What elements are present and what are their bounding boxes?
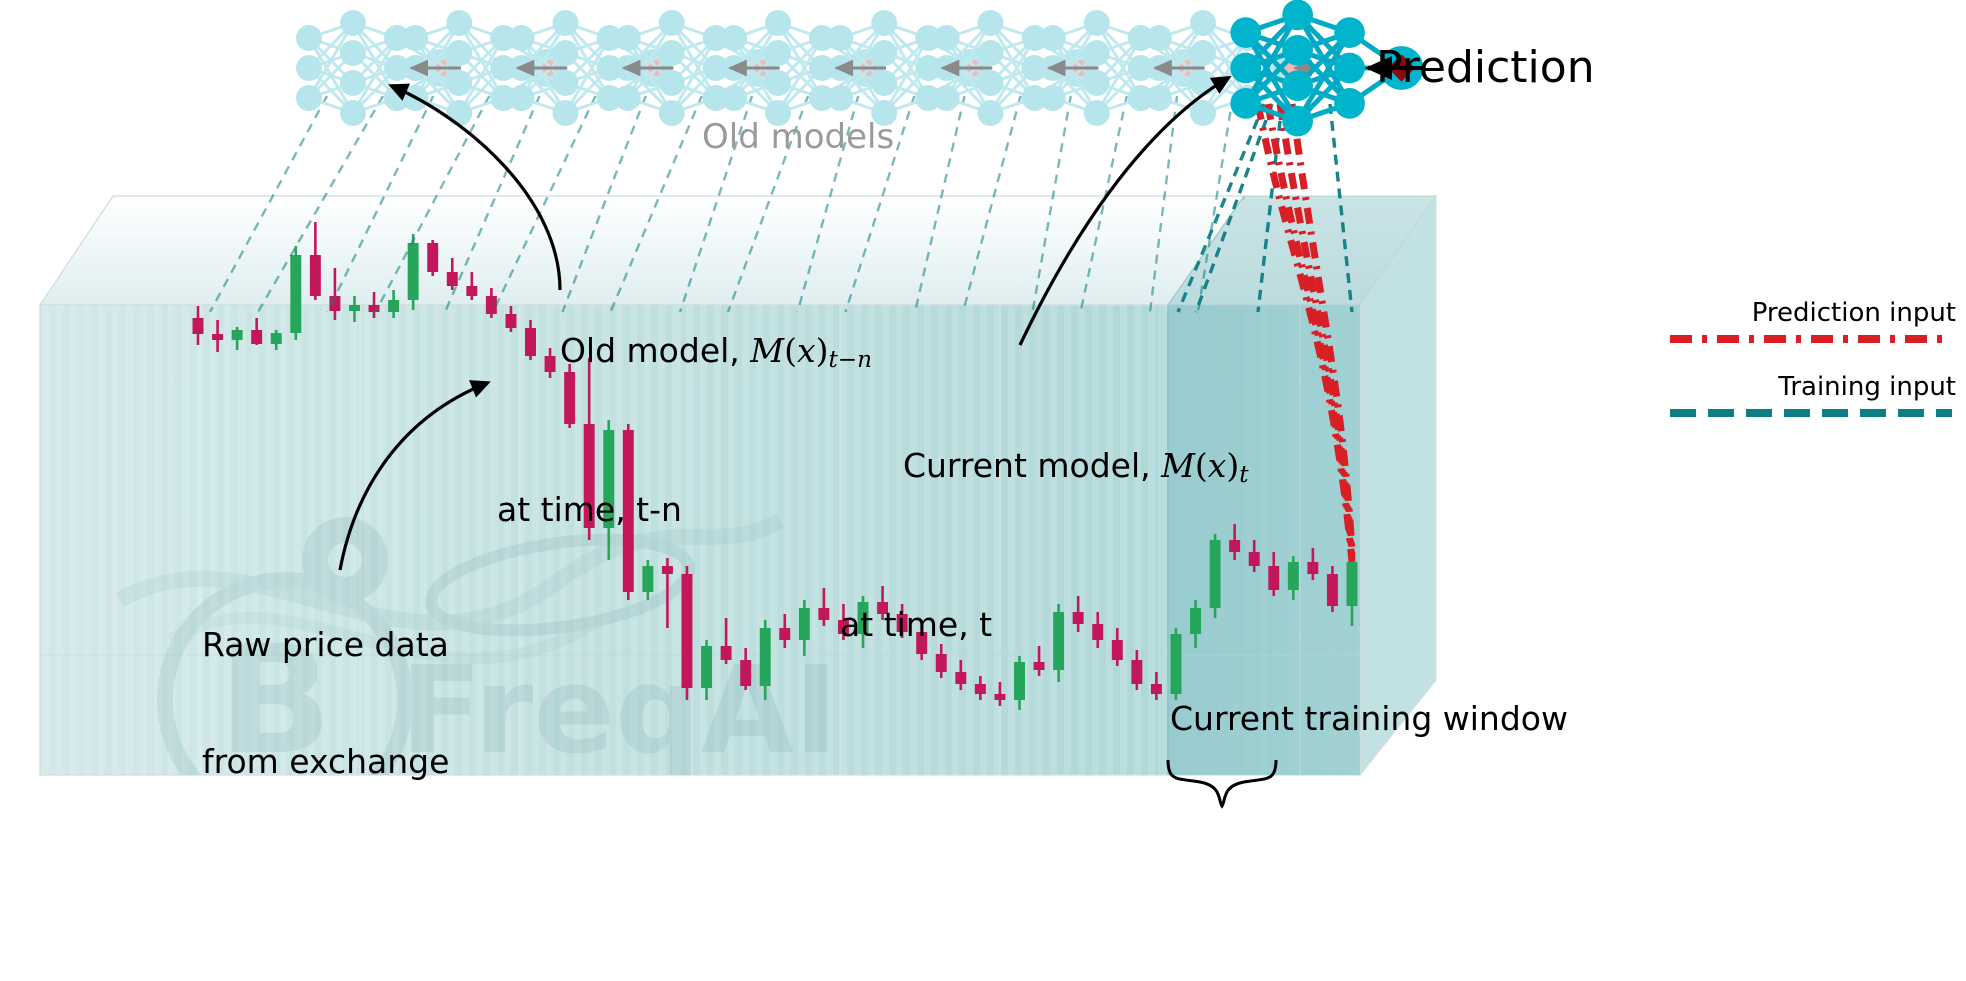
net-node	[765, 40, 791, 66]
net-node	[1190, 100, 1216, 126]
net-node	[1190, 70, 1216, 96]
net-node	[1040, 85, 1066, 111]
net-node	[871, 70, 897, 96]
net-node	[1084, 100, 1110, 126]
net-node	[1334, 88, 1365, 119]
old-model-math-M: M	[750, 331, 784, 370]
net-node	[827, 85, 853, 111]
raw-price-annotation-line1: Raw price data	[202, 626, 449, 665]
net-node	[1084, 70, 1110, 96]
net-node	[871, 10, 897, 36]
net-node	[553, 70, 579, 96]
net-node	[340, 40, 366, 66]
current-model-annotation-line1: Current model, M(x)t	[840, 408, 1249, 528]
net-node	[402, 25, 428, 51]
current-model-annotation-line2: at time, t	[840, 606, 1249, 645]
legend-label-training-input: Training input	[1666, 372, 1956, 402]
old-model-annotation: Old model, M(x)t−n at time, t-n	[497, 215, 872, 608]
net-node	[1282, 70, 1313, 101]
legend-label-prediction-input: Prediction input	[1666, 298, 1956, 328]
current-model-math-subscript: t	[1239, 462, 1248, 488]
net-node	[659, 100, 685, 126]
net-node	[721, 85, 747, 111]
old-model-math-paren-open: (	[784, 331, 797, 370]
net-node	[1040, 25, 1066, 51]
net-node	[871, 40, 897, 66]
net-node	[296, 25, 322, 51]
old-model-math-x: x	[797, 331, 816, 370]
net-node	[446, 70, 472, 96]
current-model-math-M: M	[1161, 446, 1195, 485]
old-model-prefix: Old model,	[560, 331, 750, 370]
net-node	[340, 10, 366, 36]
net-node	[934, 25, 960, 51]
net-node	[765, 70, 791, 96]
net-node	[1084, 10, 1110, 36]
net-node	[1230, 17, 1261, 48]
net-node	[978, 100, 1004, 126]
current-model-prefix: Current model,	[903, 446, 1161, 485]
net-node	[765, 10, 791, 36]
legend: Prediction input Training input	[1666, 298, 1956, 428]
raw-price-annotation-line2: from exchange	[202, 743, 449, 782]
arrow-to-raw-price-data	[340, 383, 487, 570]
old-model-annotation-line2: at time, t-n	[497, 491, 872, 530]
net-node	[1334, 17, 1365, 48]
net-node	[1146, 85, 1172, 111]
prediction-label: Prediction	[1376, 42, 1595, 94]
old-models-label: Old models	[702, 117, 894, 157]
net-node	[553, 40, 579, 66]
net-node	[659, 10, 685, 36]
net-node	[1084, 40, 1110, 66]
current-model-math-paren-open: (	[1195, 446, 1208, 485]
net-node	[659, 40, 685, 66]
net-node	[1190, 40, 1216, 66]
net-node	[978, 10, 1004, 36]
current-model-math-x: x	[1208, 446, 1227, 485]
net-node	[1190, 10, 1216, 36]
current-training-window-label: Current training window	[1170, 700, 1568, 739]
net-node	[296, 85, 322, 111]
legend-item-prediction-input: Prediction input	[1666, 298, 1956, 354]
net-node	[721, 25, 747, 51]
net-node	[978, 70, 1004, 96]
net-node	[340, 70, 366, 96]
net-node	[509, 25, 535, 51]
net-node	[934, 85, 960, 111]
net-node	[615, 85, 641, 111]
net-node	[1230, 53, 1261, 84]
net-node	[1282, 106, 1313, 137]
net-node	[1282, 0, 1313, 30]
legend-swatch-training-input	[1666, 402, 1956, 424]
net-node	[296, 55, 322, 81]
net-node	[827, 25, 853, 51]
diagram-canvas: B FreqAI	[0, 0, 1966, 981]
net-node	[1230, 88, 1261, 119]
net-node	[446, 40, 472, 66]
net-node	[659, 70, 685, 96]
net-node	[1146, 25, 1172, 51]
net-node	[1282, 35, 1313, 66]
net-node	[509, 85, 535, 111]
net-node	[446, 100, 472, 126]
training-window-brace	[1168, 760, 1276, 806]
net-node	[553, 100, 579, 126]
net-node	[553, 10, 579, 36]
current-model-annotation: Current model, M(x)t at time, t	[840, 330, 1249, 723]
raw-price-annotation: Raw price data from exchange	[202, 548, 449, 860]
net-node	[978, 40, 1004, 66]
net-node	[340, 100, 366, 126]
legend-item-training-input: Training input	[1666, 372, 1956, 428]
old-model-math-paren-close: )	[816, 331, 829, 370]
current-model-math-paren-close: )	[1226, 446, 1239, 485]
legend-swatch-prediction-input	[1666, 328, 1956, 350]
net-node	[615, 25, 641, 51]
old-model-annotation-line1: Old model, M(x)t−n	[497, 293, 872, 413]
net-node	[446, 10, 472, 36]
net-node	[1334, 53, 1365, 84]
